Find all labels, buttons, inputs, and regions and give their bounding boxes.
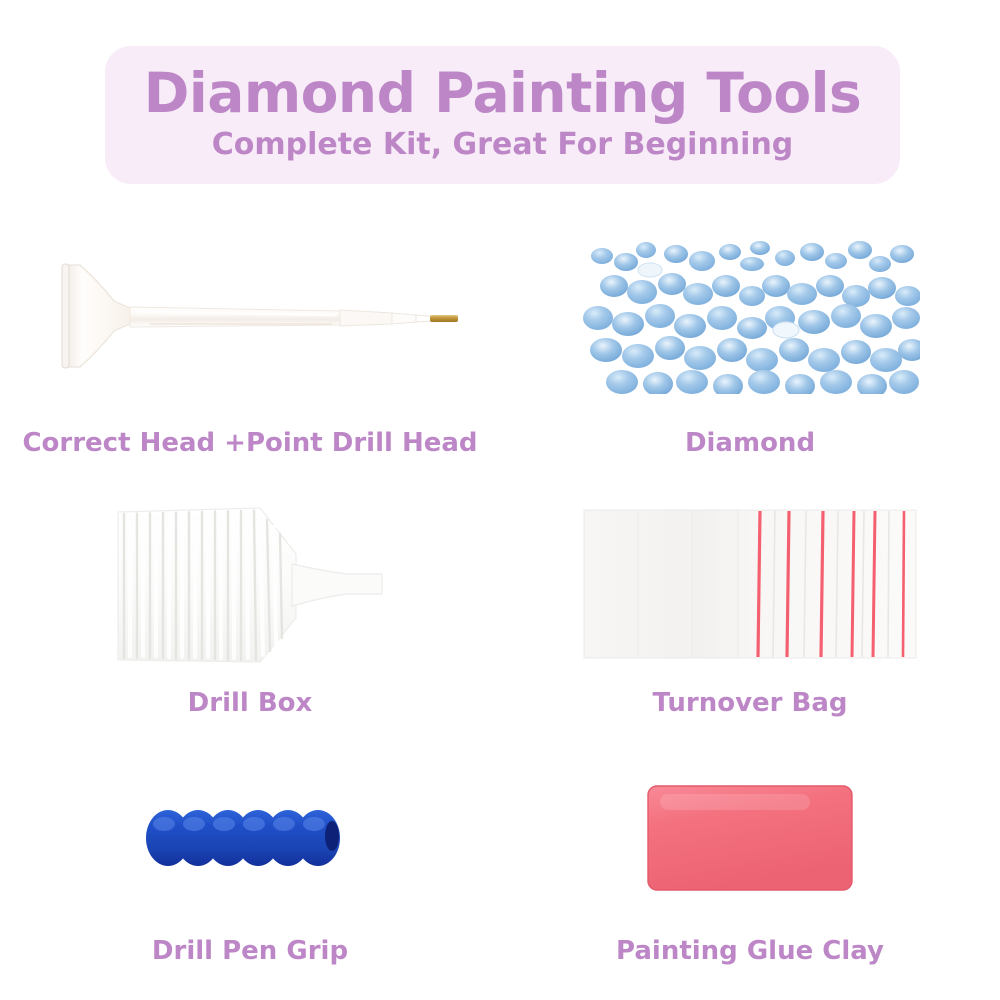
product-cell-turnover-bag: Turnover Bag <box>500 480 1000 740</box>
product-label-drill-box: Drill Box <box>188 688 313 718</box>
header-panel: Diamond Painting Tools Complete Kit, Gre… <box>105 46 900 184</box>
grip-end-hole <box>325 821 339 851</box>
pen-grip-image-area <box>0 740 500 936</box>
turnover-bag-photo <box>580 504 920 664</box>
diamond-image-area <box>500 200 1000 428</box>
gold-point-drill-tip <box>430 315 458 322</box>
drill-pen-image-area <box>0 200 500 428</box>
pen-barrel-mid <box>340 310 392 326</box>
correct-head-shape <box>66 265 132 367</box>
glue-clay-sheen <box>660 794 810 810</box>
diamond-pile <box>583 241 926 398</box>
diamond-beads-photo <box>580 234 920 394</box>
page-title: Diamond Painting Tools <box>144 65 862 121</box>
pen-grip-photo <box>140 788 360 888</box>
product-label-painting-glue-clay: Painting Glue Clay <box>616 936 884 966</box>
pen-ferrule <box>416 315 432 322</box>
product-label-correct-head-point-drill-head: Correct Head +Point Drill Head <box>22 428 477 458</box>
pen-barrel-neck <box>392 313 416 324</box>
product-cell-drill-box: Drill Box <box>0 480 500 740</box>
turnover-bag-image-area <box>500 480 1000 688</box>
glue-clay-image-area <box>500 740 1000 936</box>
product-cell-diamond: Diamond <box>500 200 1000 480</box>
product-grid: Correct Head +Point Drill Head <box>0 200 1000 1000</box>
bag-body <box>584 510 916 658</box>
page-subtitle: Complete Kit, Great For Beginning <box>212 128 794 161</box>
product-cell-painting-glue-clay: Painting Glue Clay <box>500 740 1000 1000</box>
drill-box-photo <box>100 494 400 674</box>
product-label-turnover-bag: Turnover Bag <box>652 688 847 718</box>
product-label-drill-pen-grip: Drill Pen Grip <box>152 936 348 966</box>
drill-pen-photo <box>40 239 460 389</box>
product-label-diamond: Diamond <box>685 428 815 458</box>
product-cell-drill-pen-grip: Drill Pen Grip <box>0 740 500 1000</box>
correct-head-flat-edge <box>62 264 69 368</box>
product-cell-correct-head-point-drill-head: Correct Head +Point Drill Head <box>0 200 500 480</box>
drill-box-image-area <box>0 480 500 688</box>
drill-box-handle <box>292 564 382 606</box>
glue-clay-photo <box>640 778 860 898</box>
